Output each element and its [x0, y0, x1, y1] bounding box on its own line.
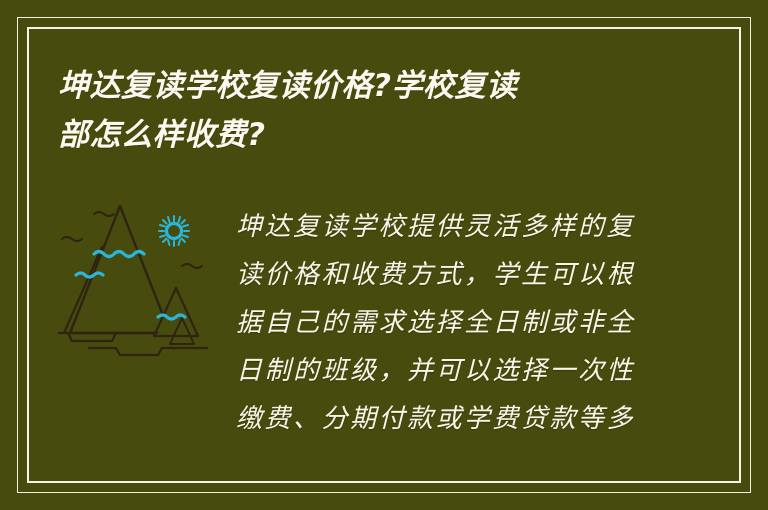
body-paragraph: 坤达复读学校提供灵活多样的复 读价格和收费方式，学生可以根 据自己的需求选择全日…: [236, 203, 656, 443]
body-line-3: 据自己的需求选择全日制或非全: [236, 299, 656, 347]
title-line-1: 坤达复读学校复读价格?学校复读: [58, 62, 688, 111]
mountain-illustration: [58, 196, 220, 362]
title-line-2: 部怎么样收费?: [58, 111, 688, 160]
ground-line-far-icon: [88, 348, 208, 355]
bird-mark-upper-icon: [94, 212, 114, 216]
page-title: 坤达复读学校复读价格?学校复读 部怎么样收费?: [58, 62, 688, 160]
sun-burst-icon: [159, 216, 189, 246]
bird-mark-right-icon: [182, 264, 202, 268]
body-line-4: 日制的班级，并可以选择一次性: [236, 347, 656, 395]
body-line-2: 读价格和收费方式，学生可以根: [236, 251, 656, 299]
poster-canvas: 坤达复读学校复读价格?学校复读 部怎么样收费?: [0, 0, 768, 510]
body-line-5: 缴费、分期付款或学费贷款等多: [236, 395, 656, 443]
bird-mark-left-icon: [62, 237, 82, 241]
body-line-1: 坤达复读学校提供灵活多样的复: [236, 203, 656, 251]
ground-line-near-icon: [58, 333, 158, 341]
large-mountain-peak-icon: [70, 206, 170, 333]
